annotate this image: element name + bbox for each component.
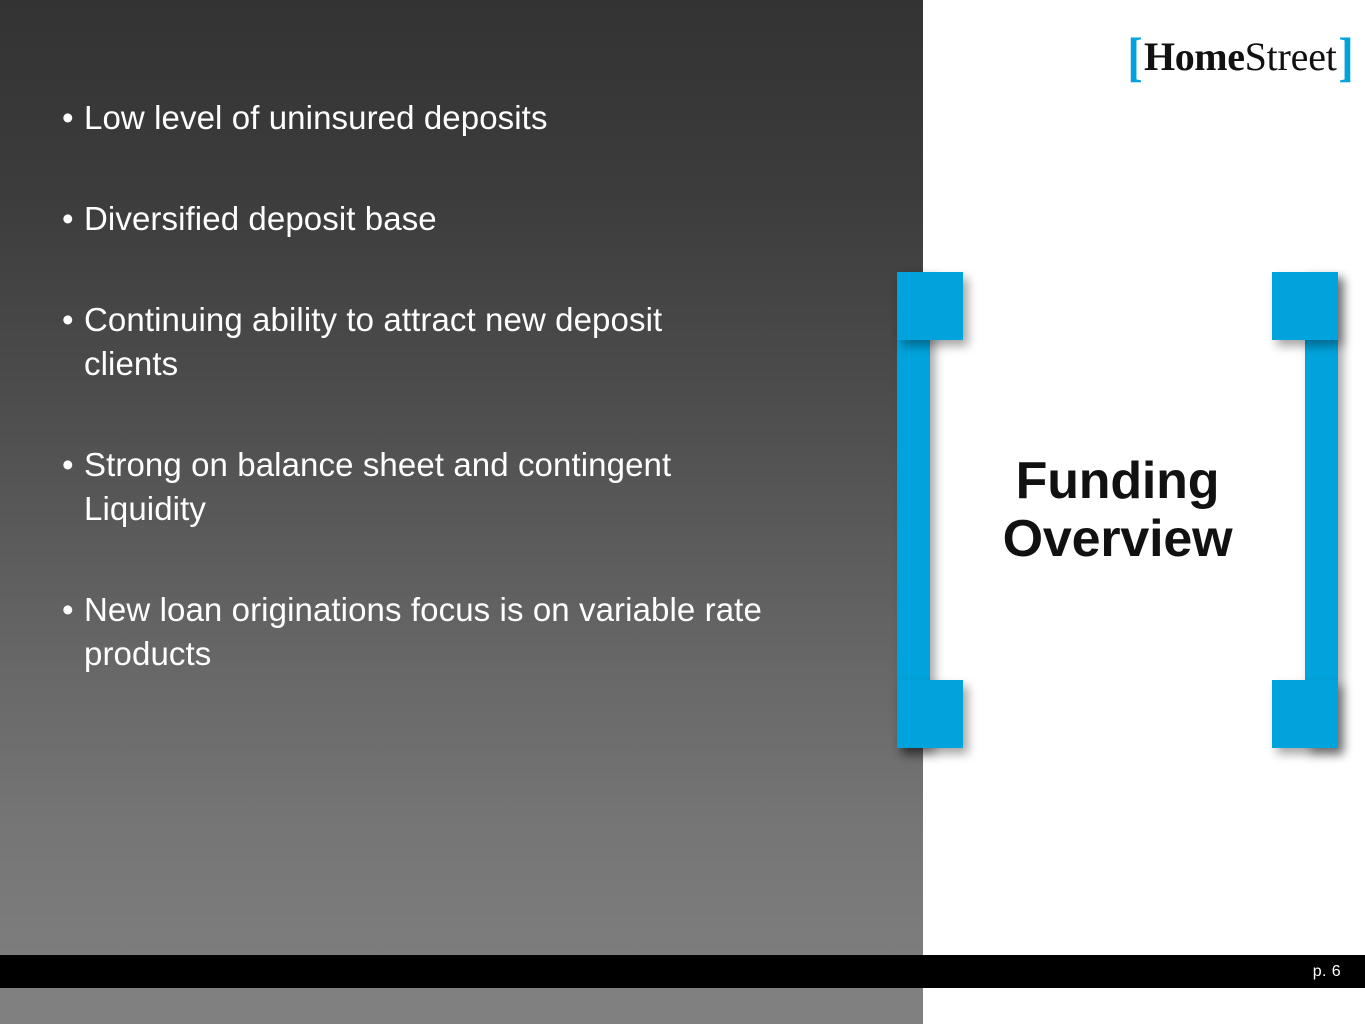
left-bracket-bottom-arm-icon [897,680,963,748]
bullet-marker-icon: • [62,443,84,487]
list-item: • Continuing ability to attract new depo… [62,298,762,386]
bullet-marker-icon: • [62,197,84,241]
bullet-marker-icon: • [62,96,84,140]
presentation-slide: • Low level of uninsured deposits • Dive… [0,0,1365,1024]
left-panel-footer-strip [0,988,923,1024]
list-item: • Low level of uninsured deposits [62,96,762,140]
bullet-text: Low level of uninsured deposits [84,96,762,140]
page-number: p. 6 [1313,955,1341,988]
page-title: Funding Overview [963,272,1272,748]
right-bracket-top-arm-icon [1272,272,1338,340]
logo-close-bracket-icon: ] [1338,30,1353,84]
bullet-marker-icon: • [62,298,84,342]
right-bracket-bottom-arm-icon [1272,680,1338,748]
list-item: • Strong on balance sheet and contingent… [62,443,762,531]
bullet-marker-icon: • [62,588,84,632]
bullet-text: Diversified deposit base [84,197,762,241]
right-bracket-spine-icon [1305,272,1338,748]
slide-title-block: Funding Overview [897,272,1338,748]
list-item: • New loan originations focus is on vari… [62,588,762,676]
logo-name-bold: Home [1144,37,1245,77]
page-title-line-1: Funding [1016,452,1220,510]
bullet-text: Strong on balance sheet and contingent L… [84,443,762,531]
logo-name-regular: Street [1245,37,1337,77]
logo-open-bracket-icon: [ [1127,30,1142,84]
footer-bar [0,955,1365,988]
bullet-text: Continuing ability to attract new deposi… [84,298,762,386]
homestreet-logo: [ Home Street ] [1126,30,1355,84]
left-bracket-spine-icon [897,272,930,748]
page-title-line-2: Overview [1003,510,1233,568]
bullet-list: • Low level of uninsured deposits • Dive… [62,96,762,676]
bullet-text: New loan originations focus is on variab… [84,588,762,676]
left-bracket-top-arm-icon [897,272,963,340]
list-item: • Diversified deposit base [62,197,762,241]
